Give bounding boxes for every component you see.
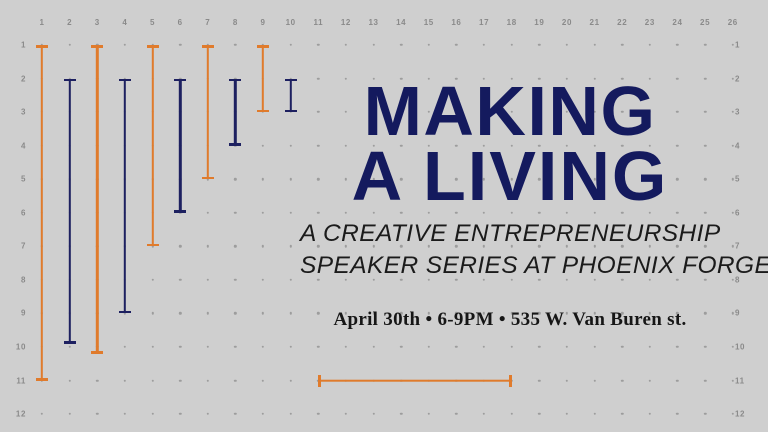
bar-cap-bottom <box>257 110 269 113</box>
grid-dot <box>234 44 236 46</box>
bar-cap-top <box>36 45 48 48</box>
column-tick-label: 14 <box>396 18 406 27</box>
row-tick-label-left: 2 <box>8 74 26 83</box>
grid-dot <box>372 346 374 348</box>
grid-dot <box>511 413 513 415</box>
poster-subtitle-line-2: SPEAKER SERIES AT PHOENIX FORGE <box>300 250 720 282</box>
grid-dot <box>207 413 209 415</box>
column-tick-label: 21 <box>590 18 600 27</box>
grid-dot <box>511 44 513 46</box>
grid-dot <box>732 178 734 180</box>
grid-dot <box>400 44 402 46</box>
grid-dot <box>234 212 236 214</box>
grid-dot <box>289 279 291 281</box>
grid-dot <box>400 413 402 415</box>
row-tick-label-right: 5 <box>735 175 755 184</box>
vertical-range-bar <box>284 79 298 113</box>
row-tick-label-right: 12 <box>735 410 755 419</box>
grid-dot <box>234 379 236 381</box>
column-tick-label: 20 <box>562 18 572 27</box>
grid-dot <box>179 413 181 415</box>
bar-stem <box>207 45 209 179</box>
grid-dot <box>234 178 236 180</box>
poster-title-line-1: MAKING <box>300 78 720 145</box>
grid-dot <box>566 44 568 46</box>
bar-stem <box>262 45 264 112</box>
grid-dot <box>96 379 98 381</box>
grid-dot <box>455 44 457 46</box>
bar-cap-bottom <box>174 210 186 213</box>
grid-dot <box>372 413 374 415</box>
grid-dot <box>96 413 98 415</box>
grid-dot <box>68 379 70 381</box>
column-tick-label: 12 <box>341 18 351 27</box>
column-tick-label: 22 <box>617 18 627 27</box>
grid-dot <box>41 413 43 415</box>
grid-dot <box>124 346 126 348</box>
row-tick-label-right: 10 <box>735 342 755 351</box>
grid-dot <box>649 379 651 381</box>
row-tick-label-left: 10 <box>8 342 26 351</box>
bar-stem <box>124 79 126 314</box>
grid-dot <box>732 312 734 314</box>
grid-dot <box>704 44 706 46</box>
bar-cap-bottom <box>229 143 241 146</box>
vertical-range-bar <box>228 79 242 146</box>
vertical-range-bar <box>256 45 270 112</box>
grid-dot <box>317 346 319 348</box>
grid-dot <box>207 279 209 281</box>
grid-dot <box>68 413 70 415</box>
bar-cap-bottom <box>202 177 214 180</box>
grid-dot <box>649 44 651 46</box>
grid-dot <box>317 44 319 46</box>
vertical-range-bar <box>35 45 49 381</box>
bar-cap-top <box>257 45 269 48</box>
grid-dot <box>262 312 264 314</box>
grid-dot <box>649 413 651 415</box>
bar-stem <box>41 45 43 381</box>
grid-dot <box>289 178 291 180</box>
row-tick-label-right: 11 <box>735 376 755 385</box>
grid-dot <box>511 346 513 348</box>
row-tick-label-right: 9 <box>735 309 755 318</box>
grid-dot <box>234 346 236 348</box>
grid-dot <box>179 312 181 314</box>
grid-dot <box>345 44 347 46</box>
grid-dot <box>566 413 568 415</box>
column-tick-label: 4 <box>122 18 127 27</box>
vertical-range-bar <box>118 79 132 314</box>
grid-dot <box>621 413 623 415</box>
grid-dot <box>289 44 291 46</box>
grid-dot <box>179 379 181 381</box>
row-tick-label-left: 3 <box>8 108 26 117</box>
grid-dot <box>483 44 485 46</box>
column-tick-label: 8 <box>233 18 238 27</box>
grid-dot <box>372 44 374 46</box>
grid-dot <box>262 212 264 214</box>
grid-dot <box>676 413 678 415</box>
grid-dot <box>262 178 264 180</box>
grid-dot <box>124 44 126 46</box>
grid-dot <box>400 346 402 348</box>
grid-dot <box>732 279 734 281</box>
vertical-range-bar <box>63 79 77 344</box>
grid-dot <box>455 413 457 415</box>
grid-dot <box>566 346 568 348</box>
row-tick-label-left: 5 <box>8 175 26 184</box>
column-tick-label: 1 <box>39 18 44 27</box>
bar-cap-end <box>509 375 512 387</box>
grid-dot <box>262 346 264 348</box>
vertical-range-bar <box>201 45 215 179</box>
grid-dot <box>262 279 264 281</box>
column-tick-label: 25 <box>700 18 710 27</box>
grid-dot <box>732 245 734 247</box>
column-tick-label: 18 <box>507 18 517 27</box>
grid-dot <box>262 413 264 415</box>
bar-cap-bottom <box>147 244 159 247</box>
grid-dot <box>151 379 153 381</box>
bar-stem <box>234 79 236 146</box>
row-tick-label-left: 11 <box>8 376 26 385</box>
bar-cap-top <box>229 79 241 82</box>
grid-dot <box>289 379 291 381</box>
grid-dot <box>621 379 623 381</box>
bar-cap-top <box>202 45 214 48</box>
bar-stem <box>179 79 181 213</box>
grid-dot <box>593 413 595 415</box>
bar-cap-bottom <box>36 378 48 381</box>
bar-stem <box>151 45 153 246</box>
grid-dot <box>289 312 291 314</box>
grid-dot <box>179 245 181 247</box>
grid-dot <box>262 379 264 381</box>
bar-cap-bottom <box>285 110 297 113</box>
bar-cap-top <box>174 79 186 82</box>
grid-dot <box>538 44 540 46</box>
column-tick-label: 23 <box>645 18 655 27</box>
grid-dot <box>732 212 734 214</box>
grid-dot <box>676 346 678 348</box>
grid-dot <box>593 346 595 348</box>
row-tick-label-right: 4 <box>735 141 755 150</box>
grid-dot <box>483 346 485 348</box>
grid-dot <box>68 346 70 348</box>
grid-dot <box>345 346 347 348</box>
grid-dot <box>593 379 595 381</box>
grid-dot <box>732 346 734 348</box>
grid-dot <box>289 144 291 146</box>
grid-dot <box>207 312 209 314</box>
grid-dot <box>483 413 485 415</box>
grid-dot <box>704 379 706 381</box>
grid-dot <box>428 44 430 46</box>
column-tick-label: 17 <box>479 18 489 27</box>
row-tick-label-left: 1 <box>8 41 26 50</box>
grid-dot <box>289 245 291 247</box>
row-tick-label-right: 3 <box>735 108 755 117</box>
grid-dot <box>704 346 706 348</box>
grid-dot <box>151 279 153 281</box>
grid-dot <box>262 144 264 146</box>
grid-dot <box>732 144 734 146</box>
grid-dot <box>124 413 126 415</box>
column-tick-label: 24 <box>672 18 682 27</box>
grid-dot <box>732 379 734 381</box>
bar-cap-bottom <box>64 341 76 344</box>
grid-dot <box>732 44 734 46</box>
grid-dot <box>289 413 291 415</box>
row-tick-label-right: 6 <box>735 208 755 217</box>
bar-cap-top <box>91 45 103 48</box>
grid-dot <box>428 346 430 348</box>
bar-cap-top <box>64 79 76 82</box>
grid-dot <box>151 346 153 348</box>
grid-dot <box>676 44 678 46</box>
column-tick-label: 16 <box>451 18 461 27</box>
grid-dot <box>124 379 126 381</box>
bar-stem <box>318 379 511 382</box>
bar-stem <box>68 79 70 344</box>
column-tick-label: 3 <box>95 18 100 27</box>
bar-stem <box>289 79 291 113</box>
column-tick-label: 26 <box>728 18 738 27</box>
poster-event-details: April 30th • 6-9PM • 535 W. Van Buren st… <box>300 309 720 331</box>
grid-dot <box>289 212 291 214</box>
column-tick-label: 9 <box>261 18 266 27</box>
grid-dot <box>732 111 734 113</box>
bar-cap-bottom <box>119 311 131 314</box>
grid-dot <box>179 279 181 281</box>
grid-dot <box>179 44 181 46</box>
grid-dot <box>621 346 623 348</box>
row-tick-label-right: 1 <box>735 41 755 50</box>
row-tick-label-left: 12 <box>8 410 26 419</box>
row-tick-label-left: 4 <box>8 141 26 150</box>
grid-dot <box>234 413 236 415</box>
row-tick-label-left: 8 <box>8 275 26 284</box>
grid-dot <box>207 346 209 348</box>
grid-dot <box>262 245 264 247</box>
grid-dot <box>538 379 540 381</box>
grid-dot <box>649 346 651 348</box>
poster-title-line-2: A LIVING <box>300 143 720 210</box>
grid-dot <box>179 346 181 348</box>
grid-dot <box>676 379 678 381</box>
grid-dot <box>621 44 623 46</box>
column-tick-label: 7 <box>205 18 210 27</box>
grid-dot <box>207 245 209 247</box>
column-tick-label: 11 <box>313 18 323 27</box>
row-tick-label-right: 7 <box>735 242 755 251</box>
vertical-range-bar <box>90 45 104 354</box>
row-tick-label-right: 2 <box>735 74 755 83</box>
bar-cap-bottom <box>91 351 103 354</box>
horizontal-range-bar <box>318 374 511 388</box>
grid-dot <box>289 346 291 348</box>
column-tick-label: 15 <box>424 18 434 27</box>
grid-dot <box>234 279 236 281</box>
grid-dot <box>151 312 153 314</box>
grid-dot <box>207 379 209 381</box>
grid-dot <box>593 44 595 46</box>
grid-dot <box>207 212 209 214</box>
column-tick-label: 10 <box>286 18 296 27</box>
bar-stem <box>96 45 98 354</box>
poster-subtitle-line-1: A CREATIVE ENTREPRENEURSHIP <box>300 218 720 250</box>
grid-dot <box>68 44 70 46</box>
grid-dot <box>732 77 734 79</box>
bar-cap-top <box>147 45 159 48</box>
column-tick-label: 5 <box>150 18 155 27</box>
row-tick-label-left: 6 <box>8 208 26 217</box>
poster-text-block: MAKING A LIVING A CREATIVE ENTREPRENEURS… <box>300 78 720 331</box>
vertical-range-bar <box>173 79 187 213</box>
vertical-range-bar <box>146 45 160 246</box>
column-tick-label: 13 <box>368 18 378 27</box>
bar-cap-top <box>285 79 297 82</box>
grid-dot <box>428 413 430 415</box>
grid-dot <box>732 413 734 415</box>
column-tick-label: 2 <box>67 18 72 27</box>
grid-dot <box>538 413 540 415</box>
grid-dot <box>151 413 153 415</box>
grid-dot <box>345 413 347 415</box>
grid-dot <box>234 312 236 314</box>
grid-dot <box>234 245 236 247</box>
column-tick-label: 19 <box>534 18 544 27</box>
grid-dot <box>566 379 568 381</box>
bar-cap-start <box>318 375 321 387</box>
grid-dot <box>538 346 540 348</box>
grid-dot <box>317 413 319 415</box>
grid-dot <box>455 346 457 348</box>
poster-canvas: 1234567891011121314151617181920212223242… <box>0 0 768 432</box>
bar-cap-top <box>119 79 131 82</box>
column-tick-label: 6 <box>178 18 183 27</box>
row-tick-label-left: 9 <box>8 309 26 318</box>
grid-dot <box>704 413 706 415</box>
row-tick-label-left: 7 <box>8 242 26 251</box>
